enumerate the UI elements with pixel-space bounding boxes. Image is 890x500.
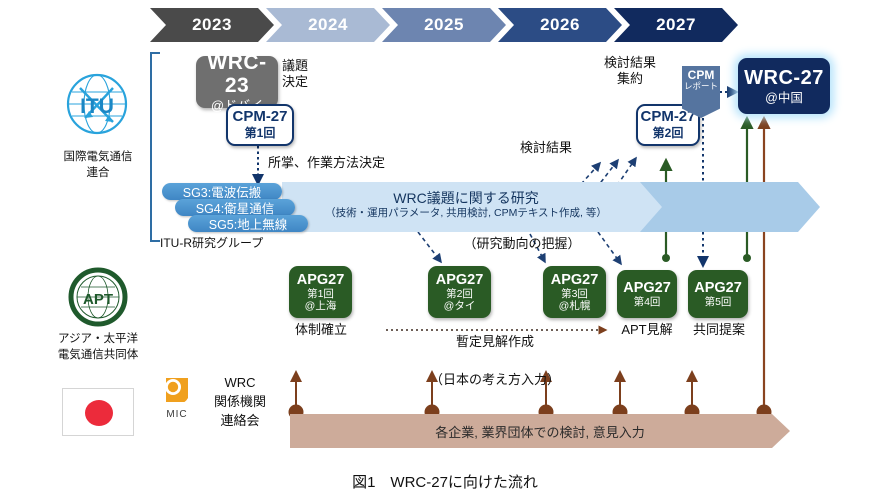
year-label: 2025	[424, 15, 464, 35]
svg-text:ITU: ITU	[80, 95, 114, 118]
year-label: 2024	[308, 15, 348, 35]
cpm-report-sub: レポート	[682, 82, 720, 91]
industry-band: 各企業, 業界団体での検討, 意見入力	[290, 414, 790, 448]
sg-pill-sg5[interactable]: SG5:地上無線	[188, 215, 308, 232]
apt-logo: APT	[62, 266, 134, 332]
event-session: 第4回	[634, 297, 661, 309]
event-apg27-2[interactable]: APG27 第2回 @タイ	[428, 266, 491, 318]
note-research-trend: （研究動向の把握）	[432, 236, 612, 252]
year-chip-2026[interactable]: 2026	[498, 8, 622, 42]
itu-r-study-group-label: ITU-R研究グループ	[160, 235, 320, 251]
itu-row-bracket	[150, 52, 160, 242]
event-session: 第1回	[245, 127, 276, 140]
event-wrc27[interactable]: WRC-27 @中国	[738, 58, 830, 114]
event-venue: @中国	[765, 91, 803, 105]
figure-canvas: 2023 2024 2025 2026 2027 ITU 国際電気通信 連合 W…	[0, 0, 890, 500]
note-study-summary: 検討結果 集約	[588, 55, 672, 86]
year-label: 2027	[656, 15, 696, 35]
event-title: WRC-27	[744, 67, 824, 89]
note-joint-proposal: 共同提案	[680, 322, 758, 338]
event-wrc23[interactable]: WRC-23 @ドバイ	[196, 56, 278, 108]
research-band-line1: WRC議題に関する研究	[286, 190, 646, 207]
event-session: 第1回	[307, 289, 334, 301]
note-agenda-decision: 議題 決定	[282, 58, 346, 89]
event-cpm27-1[interactable]: CPM-27 第1回	[226, 104, 294, 146]
event-apg27-1[interactable]: APG27 第1回 @上海	[289, 266, 352, 318]
apt-org-caption: アジア・太平洋 電気通信共同体	[28, 332, 168, 363]
note-scope-decision: 所掌、作業方法決定	[268, 155, 448, 171]
event-session: 第2回	[653, 127, 684, 140]
note-establish-system: 体制確立	[282, 322, 360, 338]
research-band-label: WRC議題に関する研究 （技術・運用パラメータ, 共用検討, CPMテキスト作成…	[286, 190, 646, 219]
event-venue: @上海	[305, 301, 337, 313]
mic-org-caption: WRC 関係機関 連絡会	[196, 374, 284, 431]
note-interim-view: 暫定見解作成	[400, 334, 590, 350]
year-label: 2026	[540, 15, 580, 35]
event-title: CPM-27	[640, 109, 695, 126]
event-title: CPM-27	[232, 109, 287, 126]
event-title: APG27	[623, 280, 671, 296]
event-title: APG27	[297, 272, 345, 288]
year-chip-2024[interactable]: 2024	[266, 8, 390, 42]
event-apg27-3[interactable]: APG27 第3回 @札幌	[543, 266, 606, 318]
svg-text:MIC: MIC	[166, 409, 187, 420]
event-title: APG27	[436, 272, 484, 288]
year-chip-2023[interactable]: 2023	[150, 8, 274, 42]
note-apt-view: APT見解	[608, 322, 686, 338]
svg-text:APT: APT	[83, 291, 113, 308]
sg-label: SG5:地上無線	[209, 214, 288, 233]
event-title: APG27	[551, 272, 599, 288]
year-chip-2025[interactable]: 2025	[382, 8, 506, 42]
itu-logo: ITU	[55, 70, 139, 148]
event-venue: @タイ	[444, 301, 476, 313]
figure-caption: 図1 WRC-27に向けた流れ	[0, 471, 890, 492]
event-apg27-5[interactable]: APG27 第5回	[688, 270, 748, 318]
event-session: 第3回	[561, 289, 588, 301]
note-study-result: 検討結果	[506, 140, 586, 156]
flag-disc	[85, 400, 113, 426]
event-session: 第5回	[705, 297, 732, 309]
industry-band-label: 各企業, 業界団体での検討, 意見入力	[435, 422, 644, 441]
event-title: WRC-23	[196, 51, 278, 98]
event-venue: @札幌	[559, 301, 591, 313]
note-japan-input: （日本の考え方入力）	[400, 372, 590, 388]
year-label: 2023	[192, 15, 232, 35]
japan-flag	[62, 388, 134, 436]
year-chip-2027[interactable]: 2027	[614, 8, 738, 42]
research-band-line2: （技術・運用パラメータ, 共用検討, CPMテキスト作成, 等）	[286, 207, 646, 220]
event-session: 第2回	[446, 289, 473, 301]
mic-logo: MIC	[156, 374, 198, 422]
event-title: APG27	[694, 280, 742, 296]
cpm-report-flag[interactable]: CPM レポート	[682, 66, 720, 118]
itu-org-caption: 国際電気通信 連合	[38, 150, 158, 181]
event-apg27-4[interactable]: APG27 第4回	[617, 270, 677, 318]
